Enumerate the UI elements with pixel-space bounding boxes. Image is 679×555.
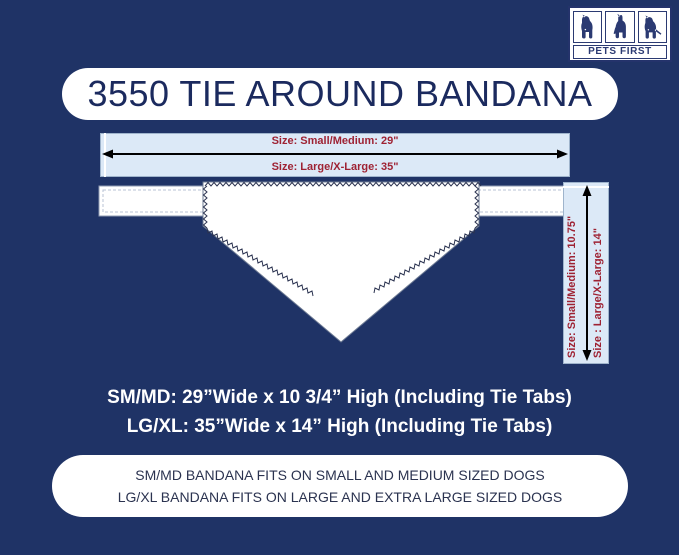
product-spec-image: PETS FIRST 3550 TIE AROUND BANDANA Size:… [0, 0, 679, 555]
fit-note-lg-xl: LG/XL BANDANA FITS ON LARGE AND EXTRA LA… [118, 486, 563, 508]
specification-lines: SM/MD: 29”Wide x 10 3/4” High (Including… [0, 383, 679, 441]
width-label-small-medium: Size: Small/Medium: 29" [100, 135, 570, 147]
fit-note-sm-md: SM/MD BANDANA FITS ON SMALL AND MEDIUM S… [135, 464, 544, 486]
standing-dog-icon [638, 11, 667, 43]
page-title-pill: 3550 TIE AROUND BANDANA [62, 68, 618, 120]
width-label-large-xlarge: Size: Large/X-Large: 35" [100, 161, 570, 173]
width-double-arrow [100, 148, 570, 160]
sitting-dog-icon [573, 11, 602, 43]
pets-first-logo: PETS FIRST [568, 6, 672, 62]
height-label-large-xlarge: Size : Large/X-Large: 14" [592, 190, 604, 358]
spec-line-sm-md: SM/MD: 29”Wide x 10 3/4” High (Including… [0, 383, 679, 412]
begging-dog-icon [605, 11, 634, 43]
page-title: 3550 TIE AROUND BANDANA [87, 73, 592, 115]
fit-notes-pill: SM/MD BANDANA FITS ON SMALL AND MEDIUM S… [52, 455, 628, 517]
logo-wordmark: PETS FIRST [573, 45, 667, 59]
spec-line-lg-xl: LG/XL: 35”Wide x 14” High (Including Tie… [0, 412, 679, 441]
bandana-diagram [95, 180, 585, 350]
height-label-small-medium: Size: Small/Medium: 10.75" [566, 190, 578, 358]
logo-dog-panels [573, 11, 667, 43]
